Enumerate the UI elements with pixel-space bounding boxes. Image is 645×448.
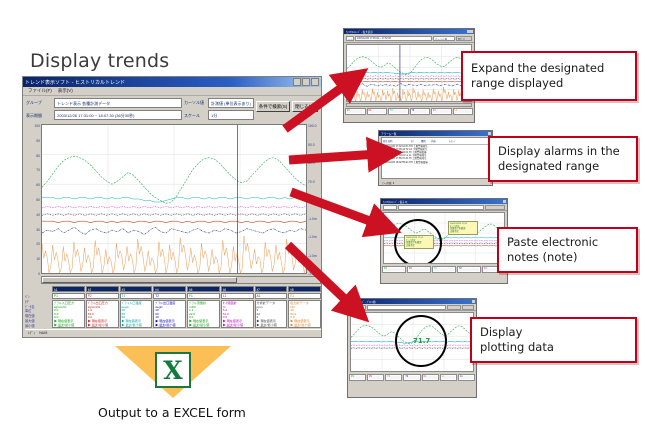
tool-field-3[interactable]: 閉じる [456, 36, 472, 41]
tag-select[interactable]: F1 [187, 293, 220, 299]
note-title-text: ﾋｽﾄﾘｶﾙﾄﾚﾝﾄﾞ - 電子ﾒﾓ [381, 200, 503, 204]
alarm-col-tag: ﾀｸﾞ [411, 139, 419, 143]
plotting-data-window[interactable]: ﾋｽﾄﾘｶﾙﾄﾚﾝﾄﾞ - ﾌﾟﾛｯﾄ値 71.7 P1P2T1T2F1L1A1 [347, 298, 477, 398]
callout-display-alarms-line1: Display alarms in the [498, 144, 620, 159]
close-icon[interactable] [488, 132, 491, 135]
main-toolbar[interactable]: グループ 表示期間 トレンド表示 各種計測データ 2003/12/26 17:3… [23, 96, 321, 122]
main-menubar[interactable]: ファイル(F) 表示(V) [23, 87, 321, 96]
thumb-pen-cell[interactable]: P1 [349, 374, 366, 381]
alarm-col-message: ﾒｯｾｰｼﾞ [449, 139, 488, 143]
pen-data-line: □ 記録 [155, 327, 184, 328]
expand-range-plot[interactable] [346, 44, 472, 102]
search-button[interactable]: 条件で検索(S) [256, 101, 290, 112]
callout-display-alarms: Display alarms in the designated range [488, 136, 638, 182]
trend-canvas[interactable] [41, 124, 307, 274]
trend-series [347, 57, 472, 75]
label-scale: スケール [184, 111, 206, 120]
thumb-pen-line: L1 [442, 376, 455, 379]
y-tick-left: 0 [38, 272, 40, 276]
y-tick-left: 70 [36, 168, 40, 172]
thumb-pen-line: P2 [369, 376, 382, 379]
cursor-value-field[interactable]: 計測値 (単位表示あり) [208, 98, 254, 108]
y-tick-right: -1.0m [308, 235, 317, 239]
thumb-pen-cell[interactable]: T2 [410, 108, 431, 115]
plot-titlebar: ﾋｽﾄﾘｶﾙﾄﾚﾝﾄﾞ - ﾌﾟﾛｯﾄ値 [348, 299, 476, 304]
thumb-pen-line: P2 [409, 268, 429, 271]
note-titlebar: ﾋｽﾄﾘｶﾙﾄﾚﾝﾄﾞ - 電子ﾒﾓ [381, 199, 507, 204]
excel-output-caption: Output to a EXCEL form [98, 405, 246, 420]
tag-select[interactable]: T2 [153, 293, 186, 299]
plotting-data-plot[interactable]: 71.7 [350, 312, 474, 372]
pen-data-column[interactable]: ｶ1P1ﾌﾟﾗﾝﾄ入口圧力kg/cm2G0.00.00.0▶ 現在値表示▶ 最大… [52, 286, 85, 328]
pen-select[interactable]: ｶ5 [187, 286, 220, 292]
trend-series [347, 81, 472, 82]
pen-data-column[interactable]: ｶ4T2ﾌﾟﾗﾝﾄ出口温度degC406040▶ 現在値表示▶ 最大/最小値□ … [153, 286, 186, 328]
electronic-note-sticky[interactable]: 2003/12/26 17:51ﾎﾟﾝﾌﾟ停止流量低下を確認点検予定 [404, 235, 434, 249]
callout-paste-notes-line2: notes (note) [507, 250, 598, 265]
trend-series [347, 84, 472, 87]
toolbar-cursor-labels: カーソル値 スケール [184, 98, 206, 120]
callout-plotting-data-line2: plotting data [480, 340, 554, 355]
note-cells[interactable]: P1P2T1T2F1 [381, 265, 507, 274]
thumb-pen-line: P1 [347, 110, 364, 113]
thumb-pen-line: P1 [351, 376, 364, 379]
thumb-pen-cell[interactable]: T1 [432, 266, 456, 273]
thumb-pen-cell[interactable]: P1 [345, 108, 366, 115]
electronic-note-window[interactable]: ﾋｽﾄﾘｶﾙﾄﾚﾝﾄﾞ - 電子ﾒﾓ 2003/12/26 17:51ﾎﾟﾝﾌﾟ… [380, 198, 508, 284]
note-plot[interactable]: 2003/12/26 17:51ﾎﾟﾝﾌﾟ停止流量低下を確認点検予定2003/1… [383, 212, 505, 264]
tag-select[interactable]: P1 [52, 293, 85, 299]
plot-tool-0[interactable] [350, 305, 366, 310]
alarm-list-window[interactable]: アラーム一覧 発生日時 ﾀｸﾞ 種別 内容 ﾒｯｾｰｼﾞ 2003/12/26 … [378, 130, 493, 186]
callout-plotting-data-line1: Display [480, 325, 554, 340]
pen-data-column[interactable]: ｶ6L1ﾀﾝｸ液面計%5.051.00.0▶ 現在値表示▶ 最大/最小値□ 記録 [221, 286, 254, 328]
toolbar-close-btn-wrap[interactable]: 閉じる(C) [292, 98, 318, 120]
pen-data-line: □ 記録 [257, 327, 286, 328]
page-title: Display trends [30, 50, 169, 72]
status-ready: ﾚﾃﾞｨ [28, 331, 35, 336]
plot-title-text: ﾋｽﾄﾘｶﾙﾄﾚﾝﾄﾞ - ﾌﾟﾛｯﾄ値 [348, 300, 472, 304]
thumb-pen-line: T1 [390, 110, 407, 113]
thumb-pen-cell[interactable]: T1 [388, 108, 409, 115]
alarm-titlebar: アラーム一覧 [379, 131, 492, 136]
toolbar-cursor-fields[interactable]: 計測値 (単位表示あり) 1分 [208, 98, 254, 120]
y-tick-left: 40 [36, 213, 40, 217]
y-tick-left: 60 [36, 183, 40, 187]
tag-select[interactable]: E1 [288, 293, 321, 299]
thumb-pen-cell[interactable]: P2 [407, 266, 431, 273]
pen-select[interactable]: ｶ3 [120, 286, 153, 292]
y-tick-left: 50 [36, 198, 40, 202]
plot-tool-1[interactable] [367, 305, 446, 310]
note-tool-2[interactable] [485, 205, 505, 210]
label-cursor: カーソル値 [184, 98, 206, 107]
y-tick-left: 80 [36, 154, 40, 158]
plot-toolbar[interactable] [348, 304, 476, 311]
pen-data-line: □ 記録 [290, 327, 319, 328]
tool-field-1[interactable]: 2003/12/26 17:45:00 ~ 17:52:00 [355, 36, 432, 41]
thumb-pen-line: P2 [369, 110, 386, 113]
alarm-col-content: 内容 [431, 139, 447, 143]
note-tool-1[interactable] [398, 205, 484, 210]
thumb-pen-cell[interactable]: P1 [382, 266, 406, 273]
thumb-pen-line: L1 [455, 110, 472, 113]
y-tick-left: 90 [36, 139, 40, 143]
callout-paste-notes: Paste electronic notes (note) [497, 227, 638, 273]
y-axis-left: 1009080706050403020100 [25, 124, 41, 274]
y-tick-right: 80.0 [308, 161, 315, 165]
plot-tool-2[interactable] [447, 305, 461, 310]
thumb-pen-cell[interactable]: A1 [458, 374, 475, 381]
excel-icon: X [155, 352, 191, 388]
close-icon[interactable] [311, 78, 319, 86]
trend-lines-svg [42, 125, 306, 273]
menu-item-view[interactable]: 表示(V) [58, 88, 73, 94]
pen-data-row-label: ﾀｸﾞ [25, 300, 51, 304]
tag-select[interactable]: L1 [221, 293, 254, 299]
trend-series [347, 76, 472, 77]
pen-data-body: ﾌﾟﾗﾝﾄ出口圧力kg/cm2G1.081.00.0▶ 現在値表示▶ 最大/最小… [86, 300, 119, 328]
alarm-col-kind: 種別 [421, 139, 429, 143]
minimize-icon[interactable] [293, 78, 301, 86]
thumb-pen-line: T2 [412, 110, 429, 113]
pen-data-row-labels: ﾍﾟﾝﾀｸﾞﾃﾞｰﾀ名単位現在値最大値最小値 [25, 286, 51, 328]
thumb-pen-line: A1 [460, 376, 473, 379]
trend-plot-area[interactable]: 1009080706050403020100 100.090.080.070.0… [25, 124, 321, 274]
electronic-note-line: 点検予定 [450, 231, 476, 234]
span-value-field[interactable]: 2003/12/26 17:31:00 ~ 18:07:30 (36分30秒) [54, 110, 182, 120]
y-tick-left: 10 [36, 257, 40, 261]
thumb-pen-cell[interactable]: T2 [403, 374, 420, 381]
plot-tool-3[interactable] [462, 305, 474, 310]
y-tick-right: 90.0 [308, 143, 315, 147]
close-icon[interactable] [472, 300, 475, 303]
label-group: グループ [26, 98, 52, 107]
menu-item-file[interactable]: ファイル(F) [28, 88, 52, 94]
electronic-note-line: 点検予定 [406, 245, 432, 248]
group-value-field[interactable]: トレンド表示 各種計測データ [54, 98, 182, 108]
main-statusbar: ﾚﾃﾞｨ NUM [25, 329, 321, 336]
note-toolbar[interactable] [381, 204, 507, 211]
pen-data-row-label: ﾍﾟﾝ [25, 295, 51, 299]
pen-data-body: ﾌﾟﾗﾝﾄ出口温度degC406040▶ 現在値表示▶ 最大/最小値□ 記録 [153, 300, 186, 328]
thumb-pen-line: T2 [459, 268, 479, 271]
toolbar-search-btn-wrap[interactable]: 条件で検索(S) [256, 98, 290, 120]
alarm-statusbar: ｱﾗｰﾑ件数: 6 [379, 180, 492, 185]
pen-data-line: □ 記録 [122, 327, 151, 328]
alarm-count: ｱﾗｰﾑ件数: 6 [382, 181, 394, 185]
y-tick-right: 100.0 [308, 124, 317, 128]
alarm-rows[interactable]: 2003/12/26 17:32:10 P1 HH 上限警報発生2003/12/… [383, 145, 488, 164]
thumb-pen-cell[interactable]: F1 [422, 374, 439, 381]
pen-data-row-label: 最小値 [25, 324, 51, 328]
scrollbar-thumb[interactable] [42, 277, 237, 283]
pen-data-column[interactable]: ｶ5F1ﾌﾟﾗﾝﾄ流量計m3/h1.222.00.0▶ 現在値表示▶ 最大/最小… [187, 286, 220, 328]
close-icon[interactable] [470, 30, 473, 33]
thumb-pen-line: T1 [387, 376, 400, 379]
y-tick-right: 70.0 [308, 180, 315, 184]
callout-expand-range-line1: Expand the designated [471, 61, 604, 76]
scale-value-field[interactable]: 1分 [208, 110, 254, 120]
toolbar-group-fields[interactable]: トレンド表示 各種計測データ 2003/12/26 17:31:00 ~ 18:… [54, 98, 182, 120]
electronic-note-sticky-2[interactable]: 2003/12/26 17:51ﾎﾟﾝﾌﾟ停止流量低下を確認点検予定 [448, 221, 478, 235]
pen-data-row-label: 現在値 [25, 314, 51, 318]
expand-range-toolbar[interactable]: トレンド表示 2003/12/26 17:45:00 ~ 17:52:00 カー… [344, 34, 474, 43]
thumb-pen-cell[interactable]: T2 [457, 266, 481, 273]
thumb-pen-line: T1 [434, 268, 454, 271]
y-tick-left: 20 [36, 242, 40, 246]
alarm-title-text: アラーム一覧 [379, 132, 488, 136]
pen-data-body: ﾌﾟﾗﾝﾄ入口温度degC505050▶ 現在値表示▶ 最大/最小値□ 記録 [120, 300, 153, 328]
thumb-pen-cell[interactable]: P2 [367, 108, 388, 115]
pen-data-column[interactable]: ｶ3T1ﾌﾟﾗﾝﾄ入口温度degC505050▶ 現在値表示▶ 最大/最小値□ … [120, 286, 153, 328]
callout-paste-notes-line1: Paste electronic [507, 235, 598, 250]
pen-data-line: □ 記録 [189, 327, 218, 328]
toolbar-labels: グループ 表示期間 [26, 98, 52, 120]
thumb-pen-line: F1 [433, 110, 450, 113]
thumb-pen-line: T2 [405, 376, 418, 379]
expand-range-lines-svg [347, 45, 472, 101]
slide-canvas: Display trends トレンド表示ソフト - ヒストリカルトレンド ファ… [0, 0, 645, 448]
thumb-pen-cell[interactable]: T1 [385, 374, 402, 381]
pen-select[interactable]: ｶ6 [221, 286, 254, 292]
y-tick-right: -1.0m [308, 254, 317, 258]
callout-display-alarms-line2: designated range [498, 159, 620, 174]
y-tick-right: -1.0m [308, 217, 317, 221]
expand-range-cells[interactable]: P1P2T1T2F1L1 [344, 107, 474, 116]
alarm-col-datetime: 発生日時 [383, 139, 409, 143]
pen-data-body: 分析計データppm2222▶ 現在値表示▶ 最大/最小値□ 記録 [255, 300, 288, 328]
tool-field-2[interactable]: カーソル値 [433, 36, 455, 41]
pen-data-body: 電力計データkW4092.00.0▶ 現在値表示▶ 最大/最小値□ 記録 [288, 300, 321, 328]
thumb-pen-cell[interactable]: P2 [367, 374, 384, 381]
thumb-pen-line: F1 [424, 376, 437, 379]
pen-data-table[interactable]: ﾍﾟﾝﾀｸﾞﾃﾞｰﾀ名単位現在値最大値最小値 ｶ1P1ﾌﾟﾗﾝﾄ入口圧力kg/c… [25, 286, 321, 328]
close-icon[interactable] [503, 200, 506, 203]
tag-select[interactable]: T1 [120, 293, 153, 299]
pen-data-row-label: 単位 [25, 309, 51, 313]
expand-range-title-text: ﾋｽﾄﾘｶﾙﾄﾚﾝﾄﾞ - 拡大表示 [344, 30, 466, 34]
note-tool-0[interactable] [383, 205, 397, 210]
trend-horizontal-scrollbar[interactable] [41, 276, 321, 284]
main-window-title-text: トレンド表示ソフト - ヒストリカルトレンド [25, 79, 293, 86]
pen-data-row-label: 最大値 [25, 319, 51, 323]
expand-range-titlebar: ﾋｽﾄﾘｶﾙﾄﾚﾝﾄﾞ - 拡大表示 [344, 29, 474, 34]
tag-select[interactable]: A1 [255, 293, 288, 299]
pen-data-line: □ 記録 [54, 327, 83, 328]
y-axis-right: 100.090.080.070.0-1.0m-1.0m-1.0m-1.0m-1.… [307, 124, 321, 274]
alarm-row[interactable]: 2003/12/26 18:02:55 E1 HH 上限警報復帰 [383, 161, 488, 164]
label-span: 表示期間 [26, 111, 52, 120]
alarm-list-body[interactable]: 発生日時 ﾀｸﾞ 種別 内容 ﾒｯｾｰｼﾞ 2003/12/26 17:32:1… [381, 137, 490, 179]
callout-expand-range: Expand the designated range displayed [461, 51, 637, 101]
thumb-pen-cell[interactable]: F1 [431, 108, 452, 115]
plotting-data-cells[interactable]: P1P2T1T2F1L1A1 [348, 373, 476, 382]
window-controls[interactable] [293, 78, 319, 86]
thumb-pen-cell[interactable]: L1 [453, 108, 474, 115]
pen-data-body: ﾌﾟﾗﾝﾄ流量計m3/h1.222.00.0▶ 現在値表示▶ 最大/最小値□ 記… [187, 300, 220, 328]
pen-data-body: ﾌﾟﾗﾝﾄ入口圧力kg/cm2G0.00.00.0▶ 現在値表示▶ 最大/最小値… [52, 300, 85, 328]
main-window-titlebar: トレンド表示ソフト - ヒストリカルトレンド [23, 77, 321, 87]
status-num: NUM [39, 331, 47, 335]
tag-select[interactable]: P2 [86, 293, 119, 299]
pen-data-column[interactable]: ｶ7A1分析計データppm2222▶ 現在値表示▶ 最大/最小値□ 記録 [255, 286, 288, 328]
pen-data-column[interactable]: ｶ2P2ﾌﾟﾗﾝﾄ出口圧力kg/cm2G1.081.00.0▶ 現在値表示▶ 最… [86, 286, 119, 328]
pen-select[interactable]: ｶ2 [86, 286, 119, 292]
y-tick-left: 100 [34, 124, 40, 128]
thumb-pen-line: P1 [384, 268, 404, 271]
pen-data-line: □ 記録 [88, 327, 117, 328]
annotation-circle [395, 315, 447, 367]
main-trend-window[interactable]: トレンド表示ソフト - ヒストリカルトレンド ファイル(F) 表示(V) グルー… [22, 76, 322, 338]
expand-range-window[interactable]: ﾋｽﾄﾘｶﾙﾄﾚﾝﾄﾞ - 拡大表示 トレンド表示 2003/12/26 17:… [343, 28, 475, 123]
pen-select[interactable]: ｶ4 [153, 286, 186, 292]
close-button[interactable]: 閉じる(C) [292, 101, 318, 112]
trend-series [347, 87, 472, 101]
maximize-icon[interactable] [302, 78, 310, 86]
y-tick-left: 30 [36, 228, 40, 232]
pen-data-body: ﾀﾝｸ液面計%5.051.00.0▶ 現在値表示▶ 最大/最小値□ 記録 [221, 300, 254, 328]
pen-select[interactable]: ｶ8 [288, 286, 321, 292]
pen-data-column[interactable]: ｶ8E1電力計データkW4092.00.0▶ 現在値表示▶ 最大/最小値□ 記録 [288, 286, 321, 328]
pen-data-line: □ 記録 [223, 327, 252, 328]
tool-field-0[interactable]: トレンド表示 [346, 36, 354, 41]
pen-select[interactable]: ｶ7 [255, 286, 288, 292]
thumb-pen-cell[interactable]: L1 [440, 374, 457, 381]
y-tick-right: -1.0m [308, 198, 317, 202]
pen-select[interactable]: ｶ1 [52, 286, 85, 292]
callout-plotting-data: Display plotting data [470, 317, 637, 363]
callout-expand-range-line2: range displayed [471, 76, 604, 91]
pen-data-columns[interactable]: ｶ1P1ﾌﾟﾗﾝﾄ入口圧力kg/cm2G0.00.00.0▶ 現在値表示▶ 最大… [52, 286, 321, 328]
